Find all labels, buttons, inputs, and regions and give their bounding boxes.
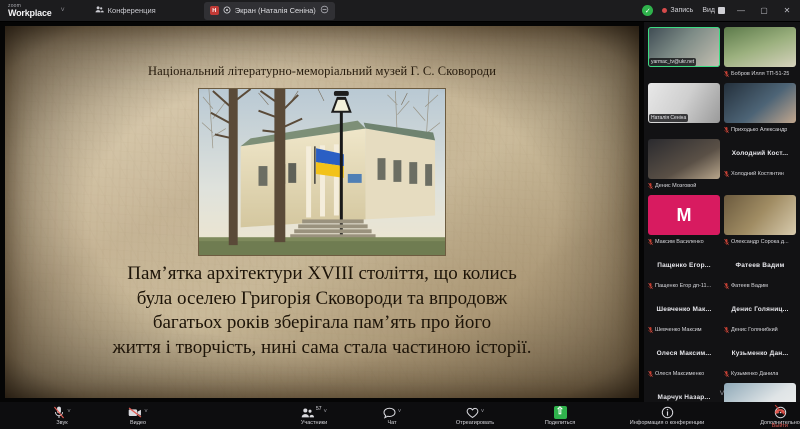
audio-label: Звук	[56, 420, 67, 426]
participant-video-tile[interactable]: Наталія Сеніна	[648, 83, 720, 123]
view-button[interactable]: Вид	[702, 7, 725, 14]
participant-display-name: Пащенко Егор...	[648, 251, 720, 279]
participant-cell[interactable]: yarmac_tv@ukr.net	[648, 27, 720, 79]
participant-name-label: Бобров Илля ТП-51-25	[731, 71, 789, 77]
meeting-info-button[interactable]: Информация о конференции	[612, 406, 722, 426]
slide-body-line-1: Пам’ятка архітектури XVIII століття, що …	[19, 262, 625, 287]
participant-name-label: Денис Голянибкий	[731, 327, 778, 333]
window-controls-group: ✓ Запись Вид — ▢ ✕	[642, 5, 800, 16]
participants-button[interactable]: 57 ˅ Участники	[286, 406, 342, 426]
participant-row: Денис МозговойХолодний Кост...Холодний К…	[648, 139, 796, 191]
participant-video-tile[interactable]	[724, 83, 796, 123]
video-chevron-down-icon[interactable]: ˅	[144, 406, 148, 418]
tab-avatar-badge: Н	[210, 6, 219, 15]
participant-row: Пащенко Егор...Пащенко Егор дп-11...Фате…	[648, 251, 796, 291]
tab-screen-label: Экран (Наталія Сеніна)	[235, 6, 316, 15]
record-label: Запись	[670, 7, 693, 14]
maximize-window-button[interactable]: ▢	[757, 6, 771, 15]
participant-name-overlay: yarmac_tv@ukr.net	[649, 58, 696, 66]
audio-chevron-down-icon[interactable]: ˅	[67, 406, 71, 418]
brand-workplace-label: Workplace	[8, 9, 52, 18]
participant-row: MМаксим ВасиленкоОлександр Сорока д...	[648, 195, 796, 247]
participant-strip[interactable]: yarmac_tv@ukr.netБобров Илля ТП-51-25Нат…	[644, 22, 800, 402]
participant-name-row: Кузьменко Данила	[724, 368, 796, 379]
participant-name-row: Максим Василенко	[648, 236, 720, 247]
microphone-muted-icon	[724, 238, 729, 246]
participant-cell[interactable]: Холодний Кост...Холодний Костянтин	[724, 139, 796, 191]
zoom-brand[interactable]: zoom Workplace ˅	[0, 4, 65, 18]
participant-cell[interactable]: Кузьменко Дан...Кузьменко Данила	[724, 339, 796, 379]
minimize-tab-icon[interactable]	[320, 5, 329, 16]
microphone-muted-icon	[648, 326, 653, 334]
microphone-muted-icon	[648, 282, 653, 290]
presentation-slide: Національний літературно-меморіальний му…	[5, 26, 639, 398]
tab-conference[interactable]: Конференция	[87, 0, 164, 22]
participant-name-row: Пащенко Егор дп-11...	[648, 280, 720, 291]
record-dot-icon	[662, 8, 667, 13]
participant-name-row: Олександр Сорока д...	[724, 236, 796, 247]
close-window-button[interactable]: ✕	[780, 6, 794, 15]
screen-share-icon	[223, 6, 231, 16]
slide-title: Національний літературно-меморіальний му…	[5, 64, 639, 79]
slide-body-line-3: багатьох років зберігала пам’ять про йог…	[19, 311, 625, 336]
participant-display-name: Кузьменко Дан...	[724, 339, 796, 367]
participant-video-tile[interactable]: yarmac_tv@ukr.net	[648, 27, 720, 67]
participant-cell[interactable]: Бобров Илля ТП-51-25	[724, 27, 796, 79]
shield-check-icon[interactable]: ✓	[642, 5, 653, 16]
react-label: Отреагировать	[456, 420, 494, 426]
participant-video-tile[interactable]	[648, 139, 720, 179]
grid-view-icon	[718, 7, 725, 14]
participant-name-label: Денис Мозговой	[655, 183, 696, 189]
video-label: Видео	[130, 420, 146, 426]
audio-button[interactable]: ˅ Звук	[34, 406, 90, 426]
microphone-muted-icon	[724, 170, 729, 178]
share-screen-icon[interactable]: ⇧	[554, 406, 567, 419]
tab-conference-label: Конференция	[108, 6, 156, 15]
microphone-muted-icon	[648, 238, 653, 246]
chat-chevron-down-icon[interactable]: ˅	[398, 406, 402, 418]
microphone-muted-icon	[724, 126, 729, 134]
chevron-down-icon[interactable]: ˅	[61, 7, 65, 14]
participant-name-label: Максим Василенко	[655, 239, 704, 245]
participant-row: yarmac_tv@ukr.netБобров Илля ТП-51-25	[648, 27, 796, 79]
microphone-muted-icon	[648, 370, 653, 378]
microphone-muted-icon	[724, 282, 729, 290]
chat-label: Чат	[387, 420, 396, 426]
participant-name-label: Пащенко Егор дп-11...	[655, 283, 711, 289]
museum-building-photo	[198, 88, 446, 256]
participant-name-label: Приходько Александр	[731, 127, 787, 133]
slide-body-line-2: була оселею Григорія Сковороди та впродо…	[19, 287, 625, 312]
info-label: Информация о конференции	[630, 420, 704, 426]
participant-cell[interactable]: Денис Мозговой	[648, 139, 720, 191]
recording-indicator[interactable]: Запись	[662, 7, 693, 14]
participant-cell[interactable]: Приходько Александр	[724, 83, 796, 135]
microphone-muted-icon	[724, 70, 729, 78]
participant-name-label: Олександр Сорока д...	[731, 239, 789, 245]
video-button[interactable]: ˅ Видео	[110, 406, 166, 426]
shared-screen-stage[interactable]: Національний літературно-меморіальний му…	[0, 22, 644, 402]
participant-cell[interactable]: Пащенко Егор...Пащенко Егор дп-11...	[648, 251, 720, 291]
participant-name-label: Олеся Максименко	[655, 371, 704, 377]
participant-name-row: Олеся Максименко	[648, 368, 720, 379]
participant-name-row: Холодний Костянтин	[724, 168, 796, 179]
participants-count: 57	[316, 406, 322, 413]
participant-row: Олеся Максим...Олеся МаксименкоКузьменко…	[648, 339, 796, 379]
participant-cell[interactable]: MМаксим Василенко	[648, 195, 720, 247]
participant-display-name: Олеся Максим...	[648, 339, 720, 367]
microphone-muted-icon	[724, 370, 729, 378]
minimize-window-button[interactable]: —	[734, 6, 748, 15]
participant-row: Шевченко Мак...Шевченко МаксимДенис Голя…	[648, 295, 796, 335]
participant-cell[interactable]: Олександр Сорока д...	[724, 195, 796, 247]
share-label: Поделиться	[545, 420, 575, 426]
tab-screen-share[interactable]: Н Экран (Наталія Сеніна)	[204, 2, 335, 20]
participants-chevron-down-icon[interactable]: ˅	[324, 406, 328, 418]
participant-name-label: Холодний Костянтин	[731, 171, 784, 177]
microphone-muted-icon	[648, 182, 653, 190]
participant-cell[interactable]: Наталія Сеніна	[648, 83, 720, 135]
participant-name-label: Фатеев Вадим	[731, 283, 768, 289]
participant-row: Наталія СенінаПриходько Александр	[648, 83, 796, 135]
meeting-toolbar: ˅ Звук ˅ Видео	[0, 402, 800, 429]
participant-cell[interactable]: Денис Голяниц...Денис Голянибкий	[724, 295, 796, 335]
slide-body-line-4: життя і творчість, нині сама стала части…	[19, 336, 625, 361]
zoom-meeting-window: zoom Workplace ˅ Конференция Н Экран (На…	[0, 0, 800, 429]
participant-cell[interactable]: Шевченко Мак...Шевченко Максим	[648, 295, 720, 335]
view-label: Вид	[702, 7, 715, 14]
participant-name-row: Денис Мозговой	[648, 180, 720, 191]
participant-name-spacer	[648, 124, 720, 135]
participant-cell[interactable]: Олеся Максим...Олеся Максименко	[648, 339, 720, 379]
participant-video-tile[interactable]	[724, 27, 796, 67]
leave-meeting-button[interactable]: Выйти	[772, 403, 788, 429]
react-chevron-down-icon[interactable]: ˅	[481, 406, 485, 418]
avatar[interactable]: M	[648, 195, 720, 235]
participant-name-row: Денис Голянибкий	[724, 324, 796, 335]
participant-display-name: Денис Голяниц...	[724, 295, 796, 323]
top-bar: zoom Workplace ˅ Конференция Н Экран (На…	[0, 0, 800, 22]
participant-cell[interactable]: Фатеев ВадимФатеев Вадим	[724, 251, 796, 291]
participant-video-tile[interactable]	[724, 195, 796, 235]
participant-name-spacer	[648, 68, 720, 79]
chat-button[interactable]: ˅ Чат	[364, 406, 420, 426]
react-button[interactable]: ˅ Отреагировать	[442, 406, 508, 426]
participant-name-label: Шевченко Максим	[655, 327, 702, 333]
participant-name-overlay: Наталія Сеніна	[649, 114, 688, 122]
participant-display-name: Шевченко Мак...	[648, 295, 720, 323]
slide-body-text: Пам’ятка архітектури XVIII століття, що …	[19, 262, 625, 361]
participant-display-name: Фатеев Вадим	[724, 251, 796, 279]
people-icon	[95, 5, 104, 16]
microphone-muted-icon	[724, 326, 729, 334]
participant-name-label: Кузьменко Данила	[731, 371, 778, 377]
participant-display-name: Холодний Кост...	[724, 139, 796, 167]
leave-label: Выйти	[772, 423, 788, 429]
participant-name-row: Фатеев Вадим	[724, 280, 796, 291]
participants-label: Участники	[301, 420, 327, 426]
participant-name-row: Бобров Илля ТП-51-25	[724, 68, 796, 79]
leave-meeting-icon[interactable]	[773, 403, 787, 422]
participant-name-row: Шевченко Максим	[648, 324, 720, 335]
participant-name-row: Приходько Александр	[724, 124, 796, 135]
share-screen-button[interactable]: ⇧ Поделиться	[530, 406, 590, 426]
